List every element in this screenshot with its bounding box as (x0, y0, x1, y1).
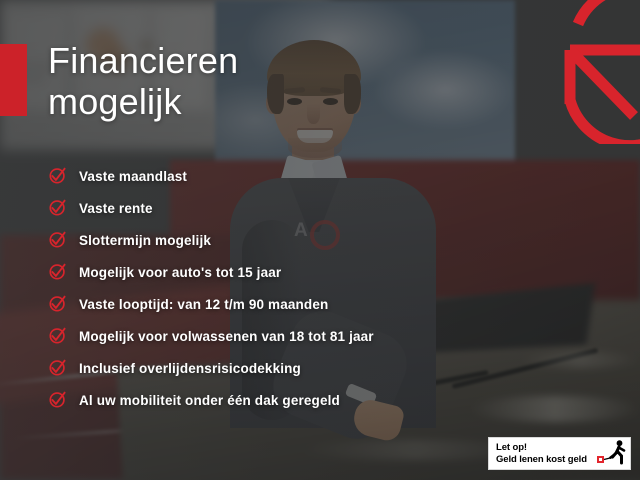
check-circle-icon (48, 390, 67, 409)
check-circle-icon (48, 262, 67, 281)
list-item-label: Vaste maandlast (79, 169, 187, 184)
check-circle-icon (48, 358, 67, 377)
red-accent-block (0, 44, 27, 116)
headline-line-1: Financieren (48, 40, 378, 81)
warning-text: Let op! Geld lenen kost geld (489, 442, 596, 465)
list-item: Vaste maandlast (48, 160, 608, 192)
list-item: Mogelijk voor auto's tot 15 jaar (48, 256, 608, 288)
list-item-label: Vaste looptijd: van 12 t/m 90 maanden (79, 297, 328, 312)
red-arc-arrow-logo (556, 0, 640, 144)
check-circle-icon (48, 198, 67, 217)
list-item-label: Slottermijn mogelijk (79, 233, 211, 248)
list-item-label: Mogelijk voor auto's tot 15 jaar (79, 265, 281, 280)
page-title: Financieren mogelijk (48, 40, 378, 122)
list-item: Slottermijn mogelijk (48, 224, 608, 256)
warning-line-1: Let op! (496, 442, 596, 454)
check-circle-icon (48, 230, 67, 249)
person-pulling-block-icon (596, 439, 630, 468)
list-item-label: Inclusief overlijdensrisicodekking (79, 361, 301, 376)
check-circle-icon (48, 326, 67, 345)
list-item: Inclusief overlijdensrisicodekking (48, 352, 608, 384)
list-item-label: Vaste rente (79, 201, 153, 216)
headline-line-2: mogelijk (48, 81, 378, 122)
status-badge: Let op! Geld lenen kost geld (488, 437, 631, 470)
list-item: Mogelijk voor volwassenen van 18 tot 81 … (48, 320, 608, 352)
list-item: Vaste rente (48, 192, 608, 224)
warning-line-2: Geld lenen kost geld (496, 454, 596, 466)
list-item: Vaste looptijd: van 12 t/m 90 maanden (48, 288, 608, 320)
list-item-label: Al uw mobiliteit onder één dak geregeld (79, 393, 340, 408)
list-item-label: Mogelijk voor volwassenen van 18 tot 81 … (79, 329, 374, 344)
financing-banner: A Financieren mogelijk Vaste maandlast (0, 0, 640, 480)
check-circle-icon (48, 166, 67, 185)
list-item: Al uw mobiliteit onder één dak geregeld (48, 384, 608, 416)
check-circle-icon (48, 294, 67, 313)
feature-list: Vaste maandlast Vaste rente Slottermijn … (48, 160, 608, 416)
